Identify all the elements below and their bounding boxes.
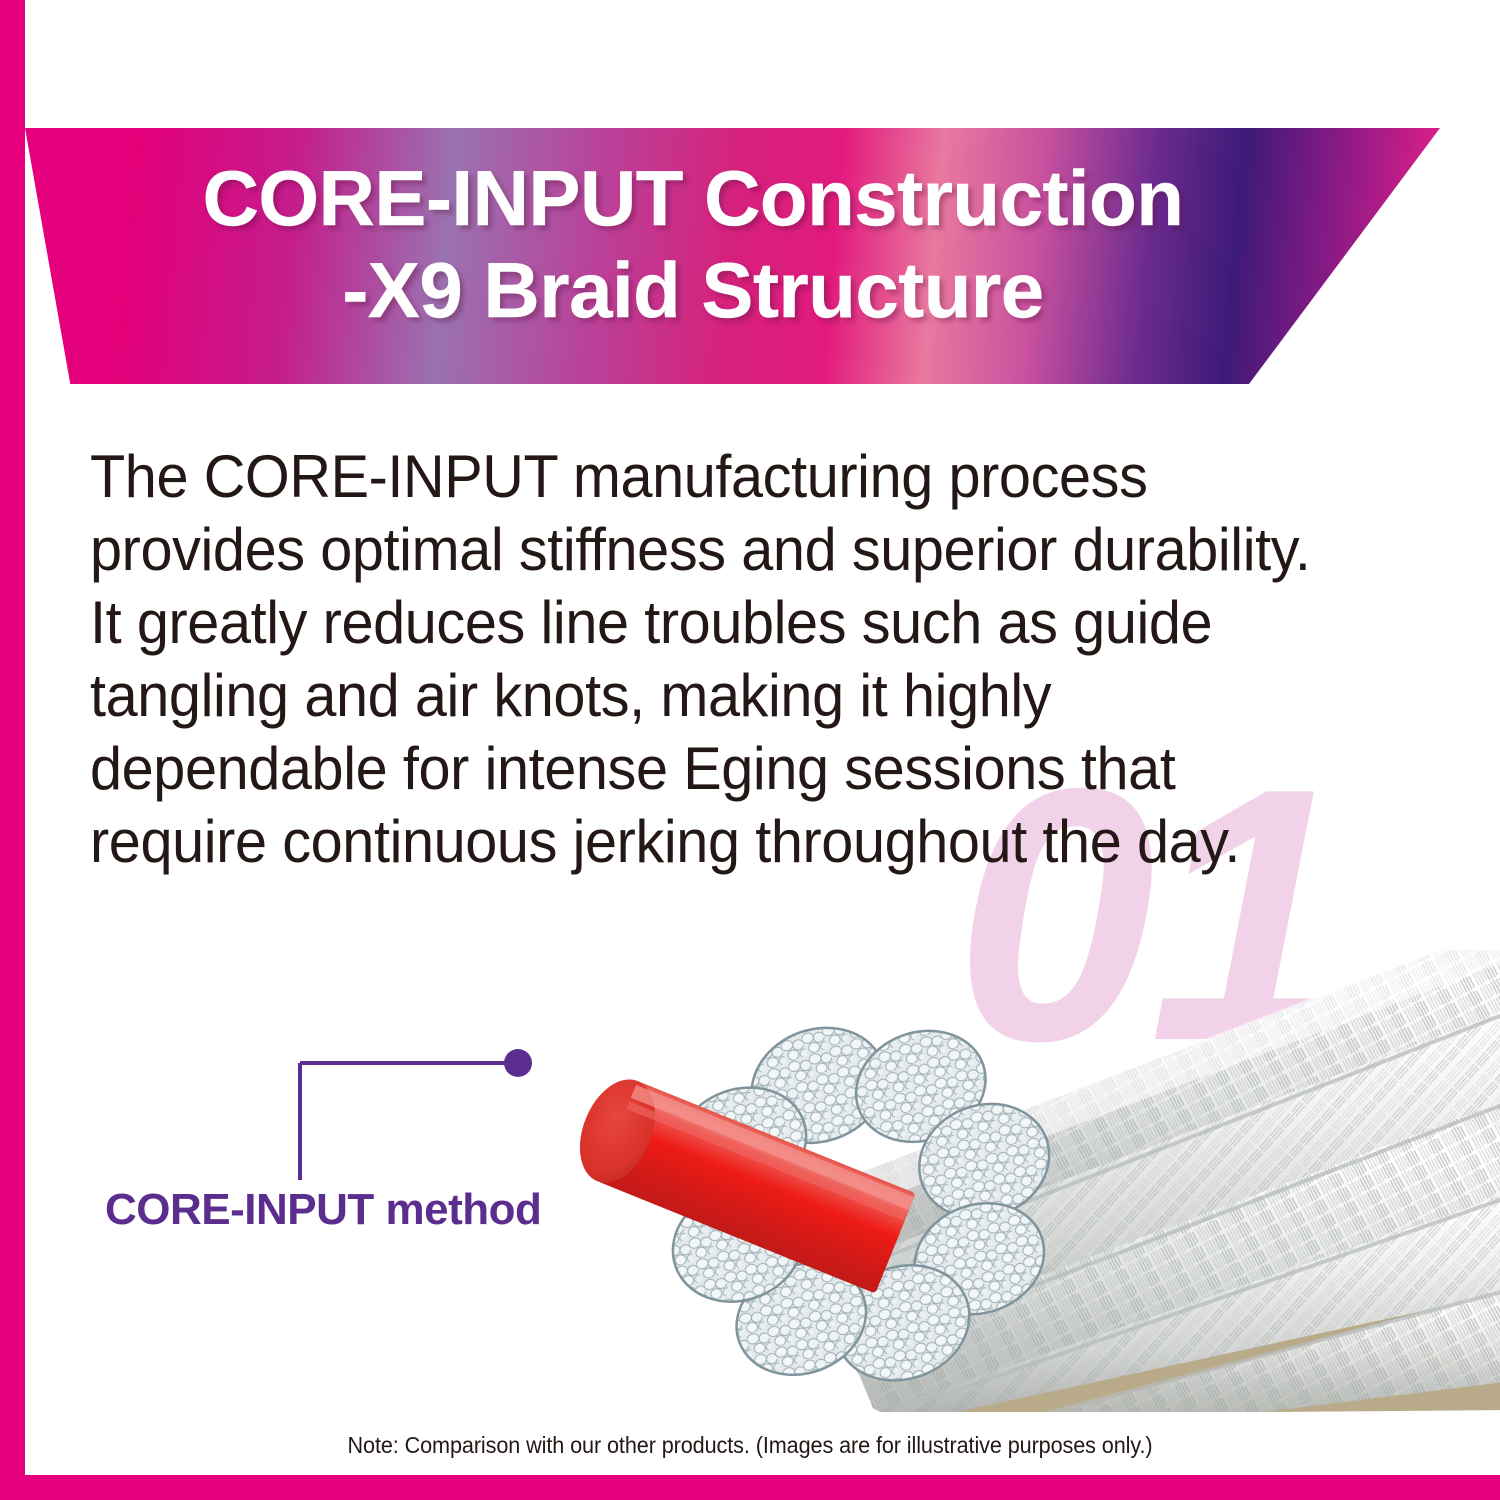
frame-left-bar bbox=[0, 0, 25, 1500]
x9-braid-illustration bbox=[560, 950, 1500, 1490]
page-title: CORE-INPUT Construction -X9 Braid Struct… bbox=[68, 152, 1318, 336]
core-input-method-label: CORE-INPUT method bbox=[105, 1185, 541, 1235]
body-paragraph: The CORE-INPUT manufacturing process pro… bbox=[90, 440, 1328, 878]
callout-leader-line bbox=[270, 1030, 570, 1210]
leader-dot-icon bbox=[504, 1049, 532, 1077]
footnote: Note: Comparison with our other products… bbox=[45, 1432, 1455, 1459]
infographic-page: 01 CORE-INPUT Construction -X9 Braid Str… bbox=[0, 0, 1500, 1500]
header-banner: CORE-INPUT Construction -X9 Braid Struct… bbox=[25, 128, 1440, 384]
frame-bottom-bar bbox=[0, 1475, 1500, 1500]
